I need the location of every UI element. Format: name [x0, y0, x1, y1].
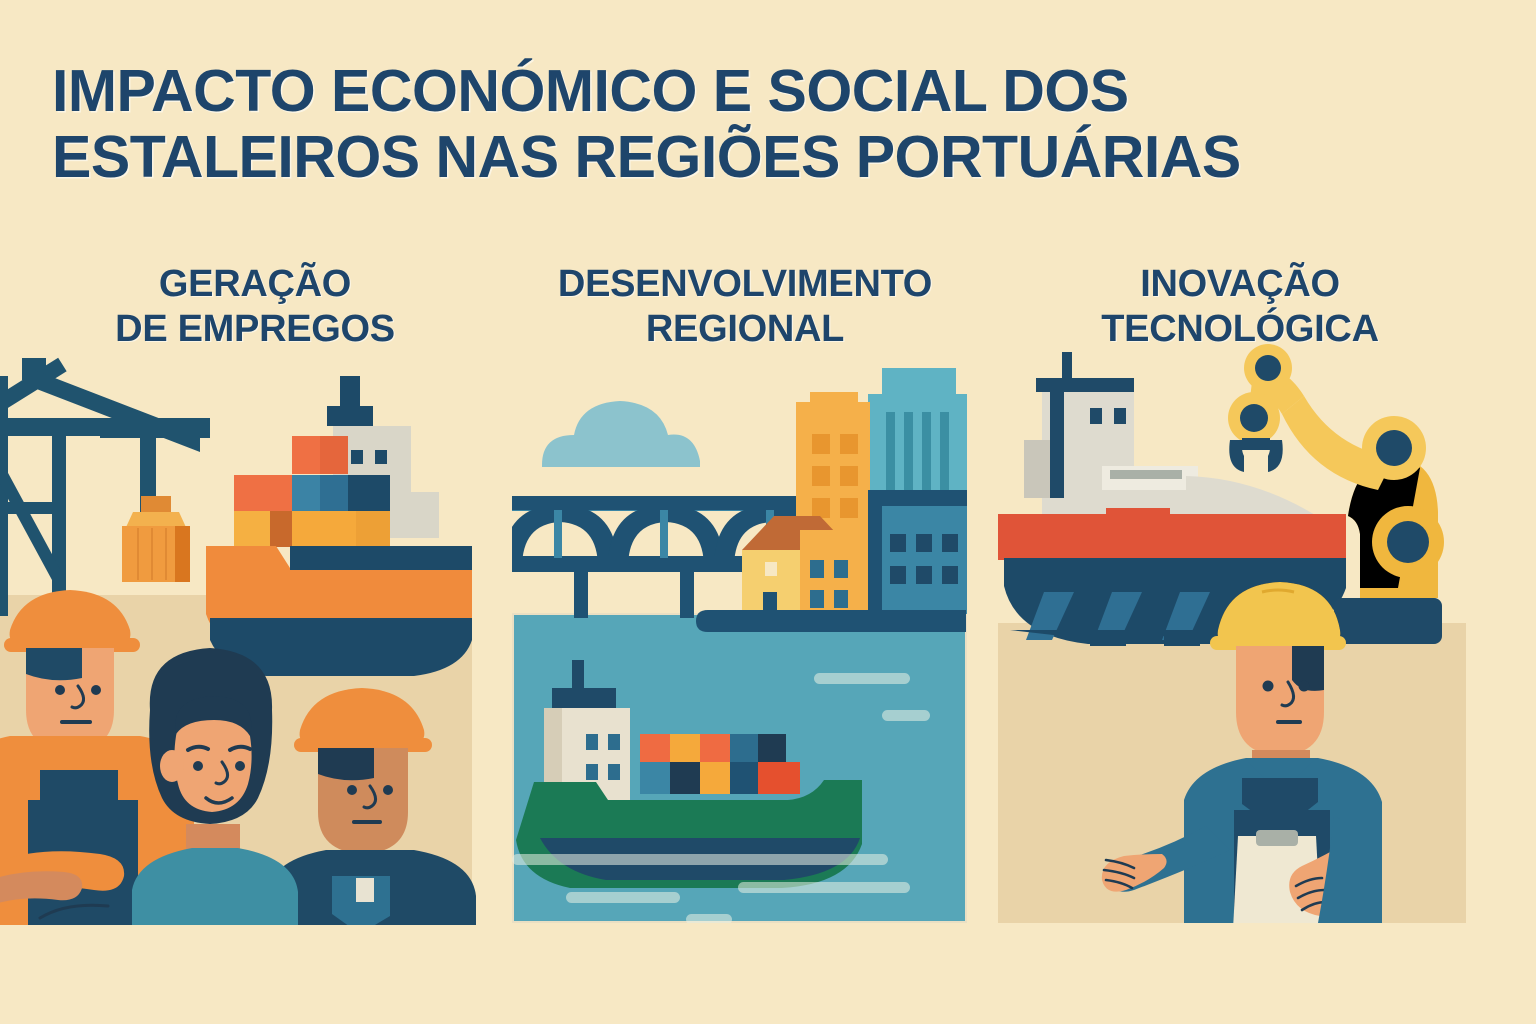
title-line-1: IMPACTO ECONÓMICO E SOCIAL DOS: [52, 58, 1342, 124]
container-ship-icon: [206, 376, 472, 676]
illustration-inovacao-tecnologica: [996, 330, 1466, 923]
title-line-2: ESTALEIROS NAS REGIÕES PORTUÁRIAS: [52, 124, 1342, 190]
heading-line-1: INOVAÇÃO: [1000, 262, 1480, 307]
hanging-container-icon: [122, 496, 190, 582]
worker-right: [268, 688, 476, 925]
cloud-icon: [542, 401, 700, 467]
poster: IMPACTO ECONÓMICO E SOCIAL DOS ESTALEIRO…: [0, 0, 1536, 1024]
heading-line-1: DESENVOLVIMENTO: [500, 262, 990, 307]
illustration-geracao-de-empregos: [0, 330, 480, 925]
cargo-ship-icon: [516, 660, 862, 888]
illustration-desenvolvimento-regional: [512, 330, 967, 923]
page-title: IMPACTO ECONÓMICO E SOCIAL DOS ESTALEIRO…: [52, 58, 1342, 190]
heading-line-1: GERAÇÃO: [20, 262, 490, 307]
